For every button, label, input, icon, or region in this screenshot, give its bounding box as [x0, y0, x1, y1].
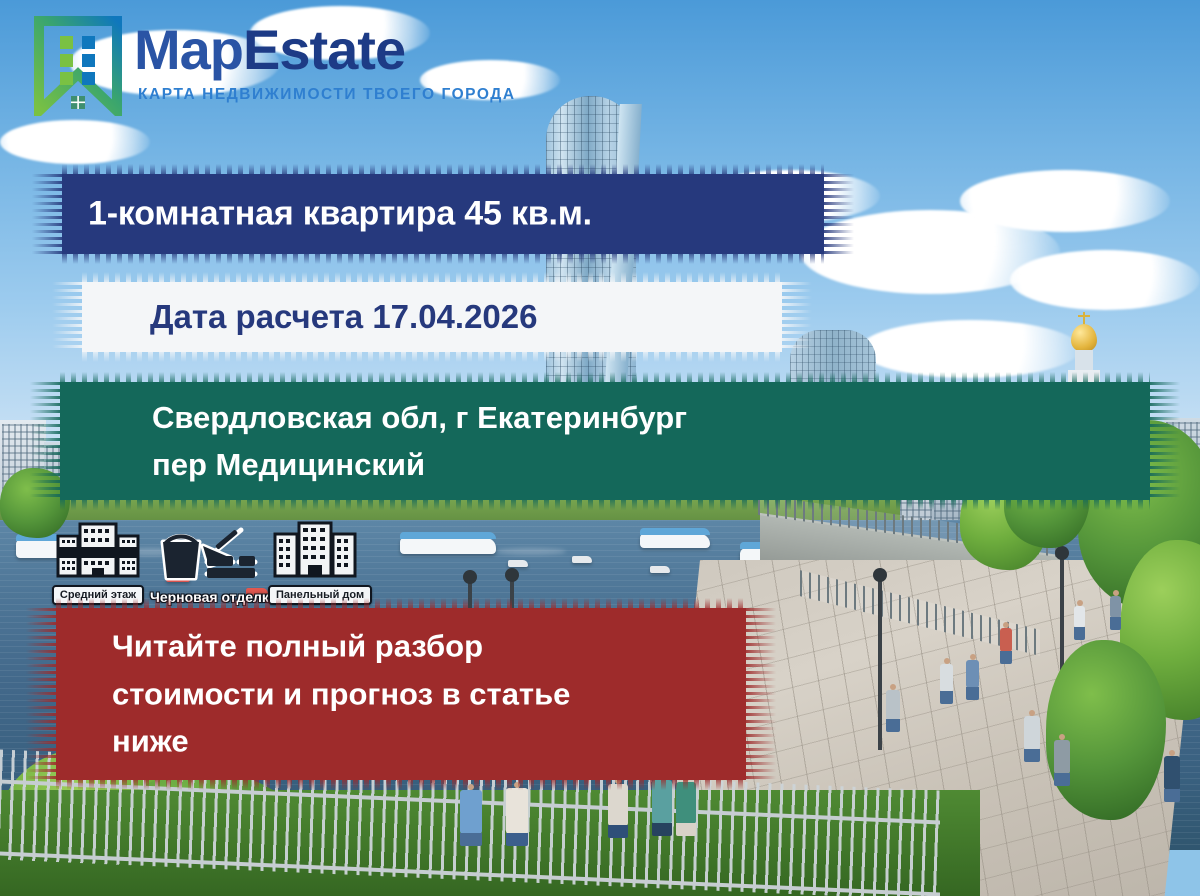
pedestrian	[608, 784, 628, 826]
boat-wake	[496, 548, 566, 555]
pedestrian	[1074, 606, 1085, 628]
brand-name-map: Map	[134, 18, 243, 81]
brush-edge-left	[30, 382, 64, 500]
address-banner: Свердловская обл, г Екатеринбург пер Мед…	[60, 382, 1150, 500]
paint-bucket-trowel-icon	[150, 522, 270, 589]
pedestrian	[1164, 756, 1180, 790]
feature-panel-house: Панельный дом	[268, 520, 362, 605]
brush-edge-right	[1146, 382, 1180, 500]
church-dome	[1071, 324, 1097, 352]
pedestrian	[966, 660, 979, 688]
brush-edge-left	[52, 282, 86, 352]
brush-edge-right	[778, 282, 812, 352]
pedestrian	[1110, 596, 1121, 618]
address-text: Свердловская обл, г Екатеринбург пер Мед…	[152, 394, 687, 488]
brand-tagline: КАРТА НЕДВИЖИМОСТИ ТВОЕГО ГОРОДА	[138, 86, 516, 104]
feature-badges: Средний этаж	[50, 520, 360, 602]
bookmark-building-icon	[34, 16, 122, 116]
pleasure-boat	[400, 538, 496, 554]
cta-text: Читайте полный разбор стоимости и прогно…	[112, 622, 570, 765]
feature-rough-finish: Черновая отделка	[150, 522, 270, 607]
brand-logo[interactable]: MapEstate КАРТА НЕДВИЖИМОСТИ ТВОЕГО ГОРО…	[34, 16, 534, 116]
panel-house-icon	[268, 520, 362, 583]
feature-mid-floor: Средний этаж	[50, 520, 146, 605]
pedestrian	[506, 788, 528, 834]
brush-edge-left	[26, 608, 60, 780]
pedestrian	[460, 790, 482, 834]
church-drum	[1075, 350, 1093, 370]
cta-line-3: ниже	[112, 718, 570, 766]
small-boat	[572, 556, 592, 563]
pleasure-boat	[640, 534, 710, 548]
cta-line-2: стоимости и прогноз в статье	[112, 670, 570, 718]
small-boat	[508, 560, 528, 567]
tree	[1046, 640, 1166, 820]
brand-name-estate: Estate	[243, 18, 405, 81]
date-banner: Дата расчета 17.04.2026	[82, 282, 782, 352]
brush-edge-right	[820, 174, 854, 254]
address-line-1: Свердловская обл, г Екатеринбург	[152, 394, 687, 441]
mid-floor-building-icon	[50, 520, 146, 583]
cloud	[1010, 250, 1200, 310]
brush-edge-left	[32, 174, 66, 254]
apartment-text: 1-комнатная квартира 45 кв.м.	[88, 195, 592, 234]
cloud	[960, 170, 1170, 232]
brush-edge-right	[742, 608, 776, 780]
cloud	[0, 120, 150, 164]
apartment-banner: 1-комнатная квартира 45 кв.м.	[62, 174, 824, 254]
calculation-date-text: Дата расчета 17.04.2026	[150, 298, 537, 336]
lamp-post	[878, 580, 882, 750]
cta-line-1: Читайте полный разбор	[112, 622, 570, 670]
cloud	[860, 320, 1080, 378]
lamp-post	[1060, 558, 1064, 678]
small-boat	[650, 566, 670, 573]
address-line-2: пер Медицинский	[152, 441, 687, 488]
pedestrian	[1024, 716, 1040, 750]
brand-wordmark: MapEstate	[134, 22, 405, 78]
cta-banner: Читайте полный разбор стоимости и прогно…	[56, 608, 746, 780]
pedestrian	[1000, 628, 1012, 652]
pedestrian	[886, 690, 900, 720]
pedestrian	[940, 664, 953, 692]
pedestrian	[1054, 740, 1070, 774]
